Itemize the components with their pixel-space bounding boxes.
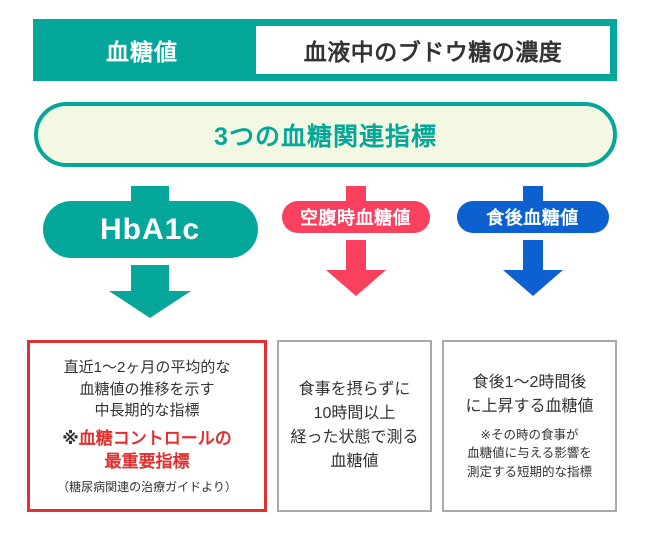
card-note-line: 測定する短期的な指標 xyxy=(467,463,592,481)
header-definition-box: 血液中のブドウ糖の濃度 xyxy=(256,26,610,74)
card-text-line: 血糖値の推移を示す xyxy=(79,379,214,401)
card-text-line: 中長期的な指標 xyxy=(94,400,199,422)
glossary-header-band: 血糖値 血液中のブドウ糖の濃度 xyxy=(33,19,617,81)
detail-card-fasting: 食事を摂らずに 10時間以上 経った状態で測る 血糖値 xyxy=(277,340,432,512)
indicator-column-hba1c: HbA1c xyxy=(25,186,275,318)
indicator-tag-hba1c[interactable]: HbA1c xyxy=(43,201,258,258)
card-note-block: ※その時の食事が 血糖値に与える影響を 測定する短期的な指標 xyxy=(467,426,592,480)
card-highlight-line: 最重要指標 xyxy=(62,451,232,474)
indicator-tag-fasting[interactable]: 空腹時血糖値 xyxy=(282,201,430,233)
indicator-column-postprandial: 食後血糖値 xyxy=(440,186,625,296)
indicator-tag-label: HbA1c xyxy=(100,213,200,247)
card-text-line: 食後1〜2時間後 xyxy=(473,371,587,395)
connector-stub xyxy=(131,186,169,201)
header-definition-label: 血液中のブドウ糖の濃度 xyxy=(304,33,563,67)
down-arrow-icon xyxy=(109,265,191,318)
indicator-column-fasting: 空腹時血糖値 xyxy=(278,186,433,296)
indicator-tag-label: 空腹時血糖値 xyxy=(300,204,411,230)
connector-stub xyxy=(346,186,366,201)
header-term-label: 血糖値 xyxy=(33,33,251,67)
connector-stub xyxy=(523,186,543,201)
card-text-line: に上昇する血糖値 xyxy=(465,395,593,419)
infographic-canvas: 血糖値 血液中のブドウ糖の濃度 3つの血糖関連指標 HbA1c 空腹時血糖値 食… xyxy=(0,0,650,536)
section-banner: 3つの血糖関連指標 xyxy=(34,102,617,167)
card-source-note: （糖尿病関連の治療ガイドより） xyxy=(57,478,237,495)
card-text-line: 10時間以上 xyxy=(314,402,396,426)
card-text-line: 血糖値 xyxy=(330,450,378,474)
indicator-tag-postprandial[interactable]: 食後血糖値 xyxy=(457,201,609,233)
detail-card-hba1c: 直近1〜2ヶ月の平均的な 血糖値の推移を示す 中長期的な指標 ※血糖コントロール… xyxy=(27,340,267,512)
indicator-tag-label: 食後血糖値 xyxy=(486,204,579,230)
card-note-line: 血糖値に与える影響を xyxy=(467,444,592,462)
card-note-line: ※その時の食事が xyxy=(467,426,592,444)
card-highlight-block: ※血糖コントロールの 最重要指標 xyxy=(62,428,232,474)
card-highlight-line: ※血糖コントロールの xyxy=(62,428,232,451)
card-text-line: 食事を摂らずに xyxy=(299,378,411,402)
down-arrow-icon xyxy=(503,240,563,296)
section-banner-label: 3つの血糖関連指標 xyxy=(214,117,437,153)
card-highlight-text: 血糖コントロールの xyxy=(79,429,232,448)
card-text-line: 経った状態で測る xyxy=(290,426,418,450)
card-text-line: 直近1〜2ヶ月の平均的な xyxy=(64,357,231,379)
reference-mark-icon: ※ xyxy=(62,429,79,448)
down-arrow-icon xyxy=(326,240,386,296)
detail-card-postprandial: 食後1〜2時間後 に上昇する血糖値 ※その時の食事が 血糖値に与える影響を 測定… xyxy=(442,340,617,512)
